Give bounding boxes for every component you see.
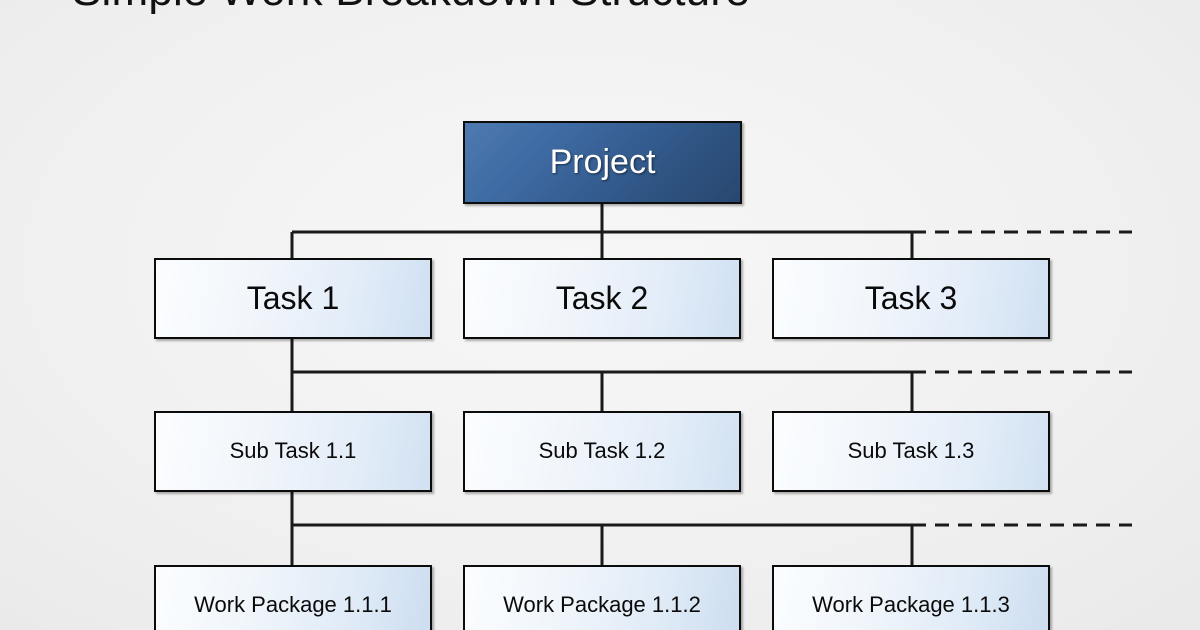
node-task-1[interactable]: Task 1 [154,258,432,339]
node-project[interactable]: Project [463,121,742,204]
node-work-package-1-1-3[interactable]: Work Package 1.1.3 [772,565,1050,630]
node-sub-task-1-3-label: Sub Task 1.3 [848,439,975,463]
node-project-label: Project [550,144,656,181]
node-work-package-1-1-1[interactable]: Work Package 1.1.1 [154,565,432,630]
node-sub-task-1-1[interactable]: Sub Task 1.1 [154,411,432,492]
node-sub-task-1-3[interactable]: Sub Task 1.3 [772,411,1050,492]
node-task-2-label: Task 2 [556,281,648,316]
wbs-diagram: Project Task 1 Task 2 Task 3 Sub Task 1.… [0,0,1200,630]
node-task-1-label: Task 1 [247,281,339,316]
node-sub-task-1-1-label: Sub Task 1.1 [230,439,357,463]
node-work-package-1-1-2[interactable]: Work Package 1.1.2 [463,565,741,630]
node-work-package-1-1-1-label: Work Package 1.1.1 [194,593,392,617]
node-work-package-1-1-2-label: Work Package 1.1.2 [503,593,701,617]
node-task-3-label: Task 3 [865,281,957,316]
node-sub-task-1-2-label: Sub Task 1.2 [539,439,666,463]
node-task-2[interactable]: Task 2 [463,258,741,339]
node-sub-task-1-2[interactable]: Sub Task 1.2 [463,411,741,492]
node-work-package-1-1-3-label: Work Package 1.1.3 [812,593,1010,617]
node-task-3[interactable]: Task 3 [772,258,1050,339]
